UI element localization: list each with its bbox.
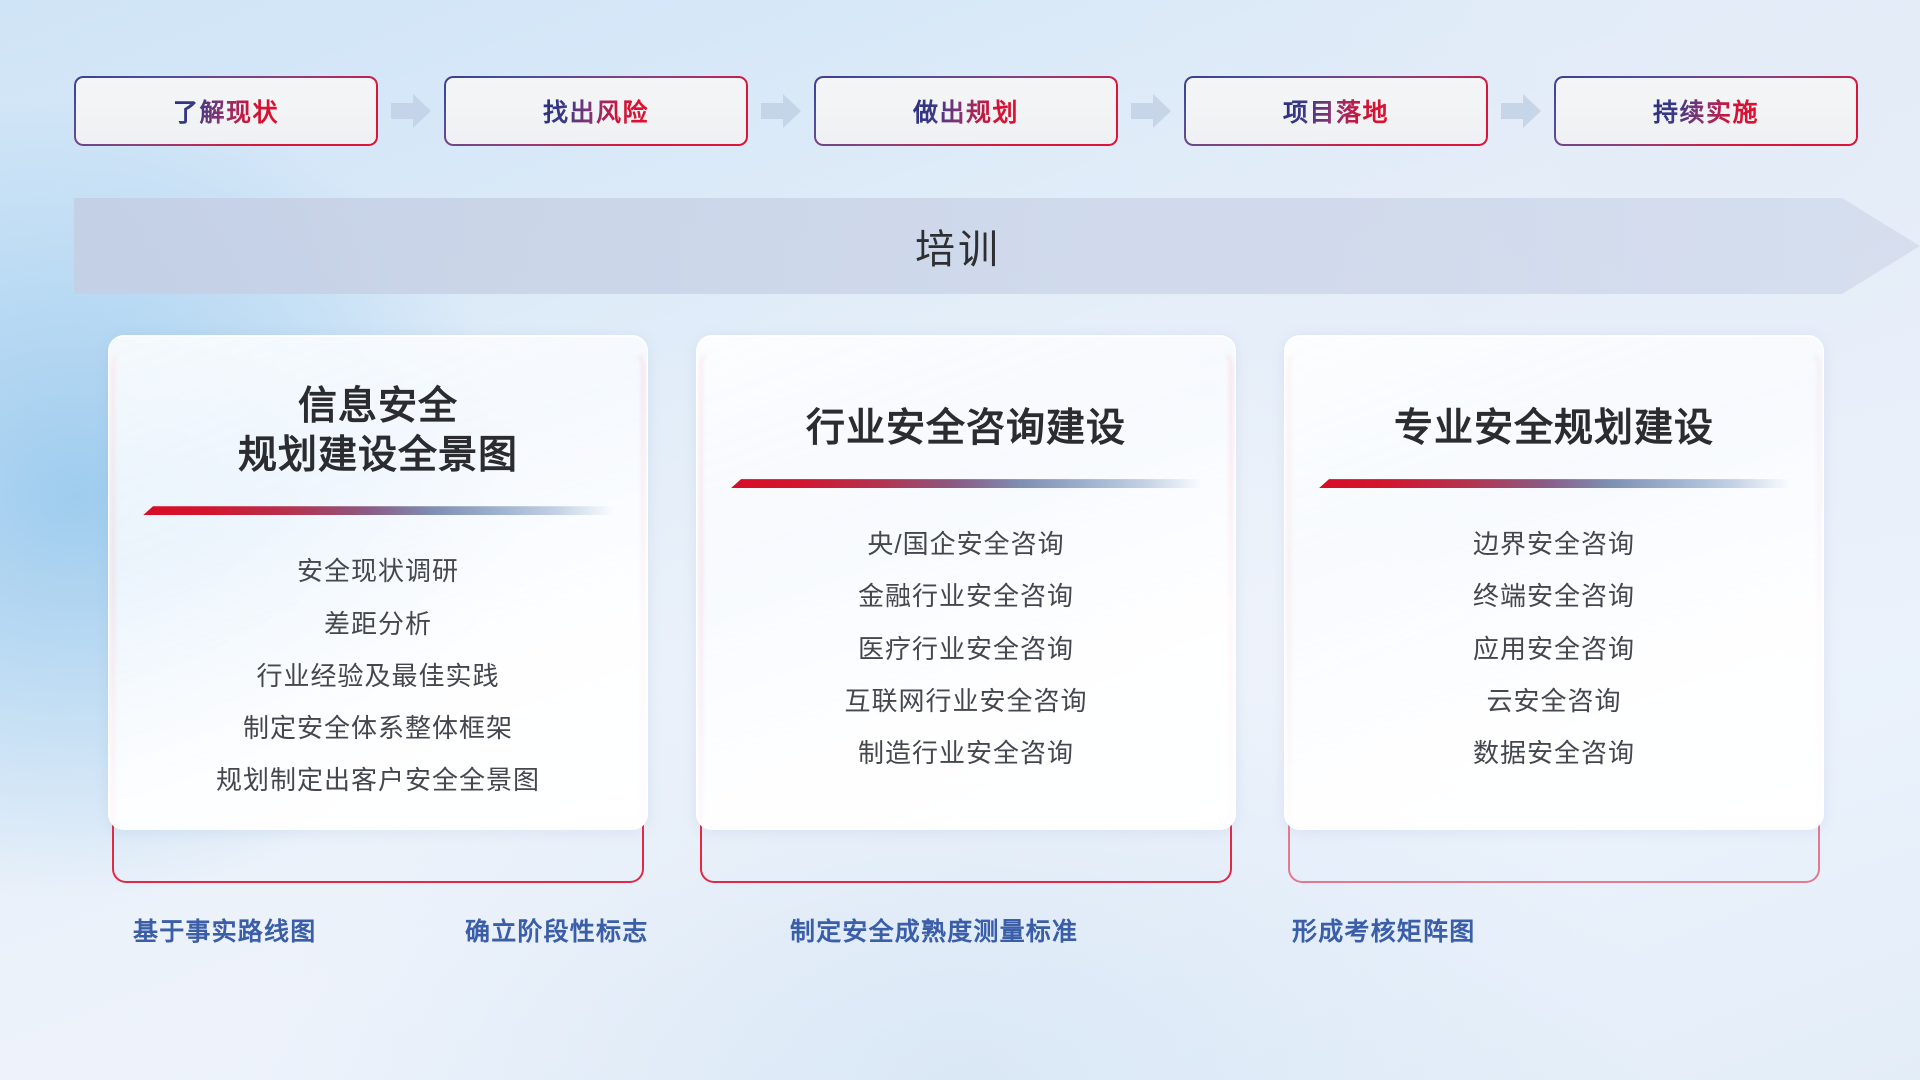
list-item: 行业经验及最佳实践: [256, 656, 499, 696]
step-label: 项目落地: [1283, 93, 1389, 129]
right-arrow-icon: [1129, 92, 1173, 130]
step-label: 了解现状: [173, 93, 279, 129]
step-label: 找出风险: [543, 93, 649, 129]
card-row: 信息安全 规划建设全景图 安全现状调研 差距分析 行业经验及最佳实践 制定安全体…: [108, 335, 1824, 875]
bottom-label-1: 基于事实路线图: [133, 912, 316, 948]
list-item: 互联网行业安全咨询: [844, 681, 1087, 721]
step-box-5[interactable]: 持续实施: [1554, 76, 1858, 146]
training-banner: 培训: [74, 198, 1920, 294]
step-box-3[interactable]: 做出规划: [814, 76, 1118, 146]
list-item: 数据安全咨询: [1473, 733, 1635, 773]
card-title: 行业安全咨询建设: [806, 382, 1126, 453]
list-item: 制造行业安全咨询: [858, 733, 1074, 773]
bottom-label-row: 基于事实路线图 确立阶段性标志 制定安全成熟度测量标准 形成考核矩阵图: [0, 912, 1920, 958]
list-item: 应用安全咨询: [1473, 629, 1635, 669]
card-divider: [731, 479, 1201, 488]
bottom-label-4: 形成考核矩阵图: [1292, 912, 1475, 948]
list-item: 医疗行业安全咨询: [858, 629, 1074, 669]
card-divider: [1319, 479, 1789, 488]
list-item: 金融行业安全咨询: [858, 576, 1074, 616]
step-label: 持续实施: [1653, 93, 1759, 129]
card-list: 安全现状调研 差距分析 行业经验及最佳实践 制定安全体系整体框架 规划制定出客户…: [216, 551, 540, 800]
right-arrow-icon: [389, 92, 433, 130]
right-arrow-icon: [1499, 92, 1543, 130]
card-list: 央/国企安全咨询 金融行业安全咨询 医疗行业安全咨询 互联网行业安全咨询 制造行…: [844, 524, 1087, 773]
step-label: 做出规划: [913, 93, 1019, 129]
step-box-4[interactable]: 项目落地: [1184, 76, 1488, 146]
card-list: 边界安全咨询 终端安全咨询 应用安全咨询 云安全咨询 数据安全咨询: [1473, 524, 1635, 773]
list-item: 央/国企安全咨询: [867, 524, 1064, 564]
card-3[interactable]: 专业安全规划建设 边界安全咨询 终端安全咨询 应用安全咨询 云安全咨询 数据安全…: [1284, 335, 1824, 875]
list-item: 制定安全体系整体框架: [243, 708, 513, 748]
list-item: 差距分析: [324, 604, 432, 644]
bottom-label-2: 确立阶段性标志: [465, 912, 648, 948]
card-divider: [143, 506, 613, 515]
list-item: 终端安全咨询: [1473, 576, 1635, 616]
banner-label: 培训: [74, 198, 1920, 294]
right-arrow-icon: [759, 92, 803, 130]
bottom-label-3: 制定安全成熟度测量标准: [790, 912, 1078, 948]
list-item: 安全现状调研: [297, 551, 459, 591]
card-2[interactable]: 行业安全咨询建设 央/国企安全咨询 金融行业安全咨询 医疗行业安全咨询 互联网行…: [696, 335, 1236, 875]
card-title: 信息安全 规划建设全景图: [238, 382, 518, 480]
step-box-2[interactable]: 找出风险: [444, 76, 748, 146]
list-item: 边界安全咨询: [1473, 524, 1635, 564]
card-1[interactable]: 信息安全 规划建设全景图 安全现状调研 差距分析 行业经验及最佳实践 制定安全体…: [108, 335, 648, 875]
list-item: 云安全咨询: [1486, 681, 1621, 721]
process-step-row: 了解现状 找出风险 做出规划 项目落地 持续实施: [74, 76, 1858, 146]
step-box-1[interactable]: 了解现状: [74, 76, 378, 146]
card-title: 专业安全规划建设: [1394, 382, 1714, 453]
list-item: 规划制定出客户安全全景图: [216, 760, 540, 800]
